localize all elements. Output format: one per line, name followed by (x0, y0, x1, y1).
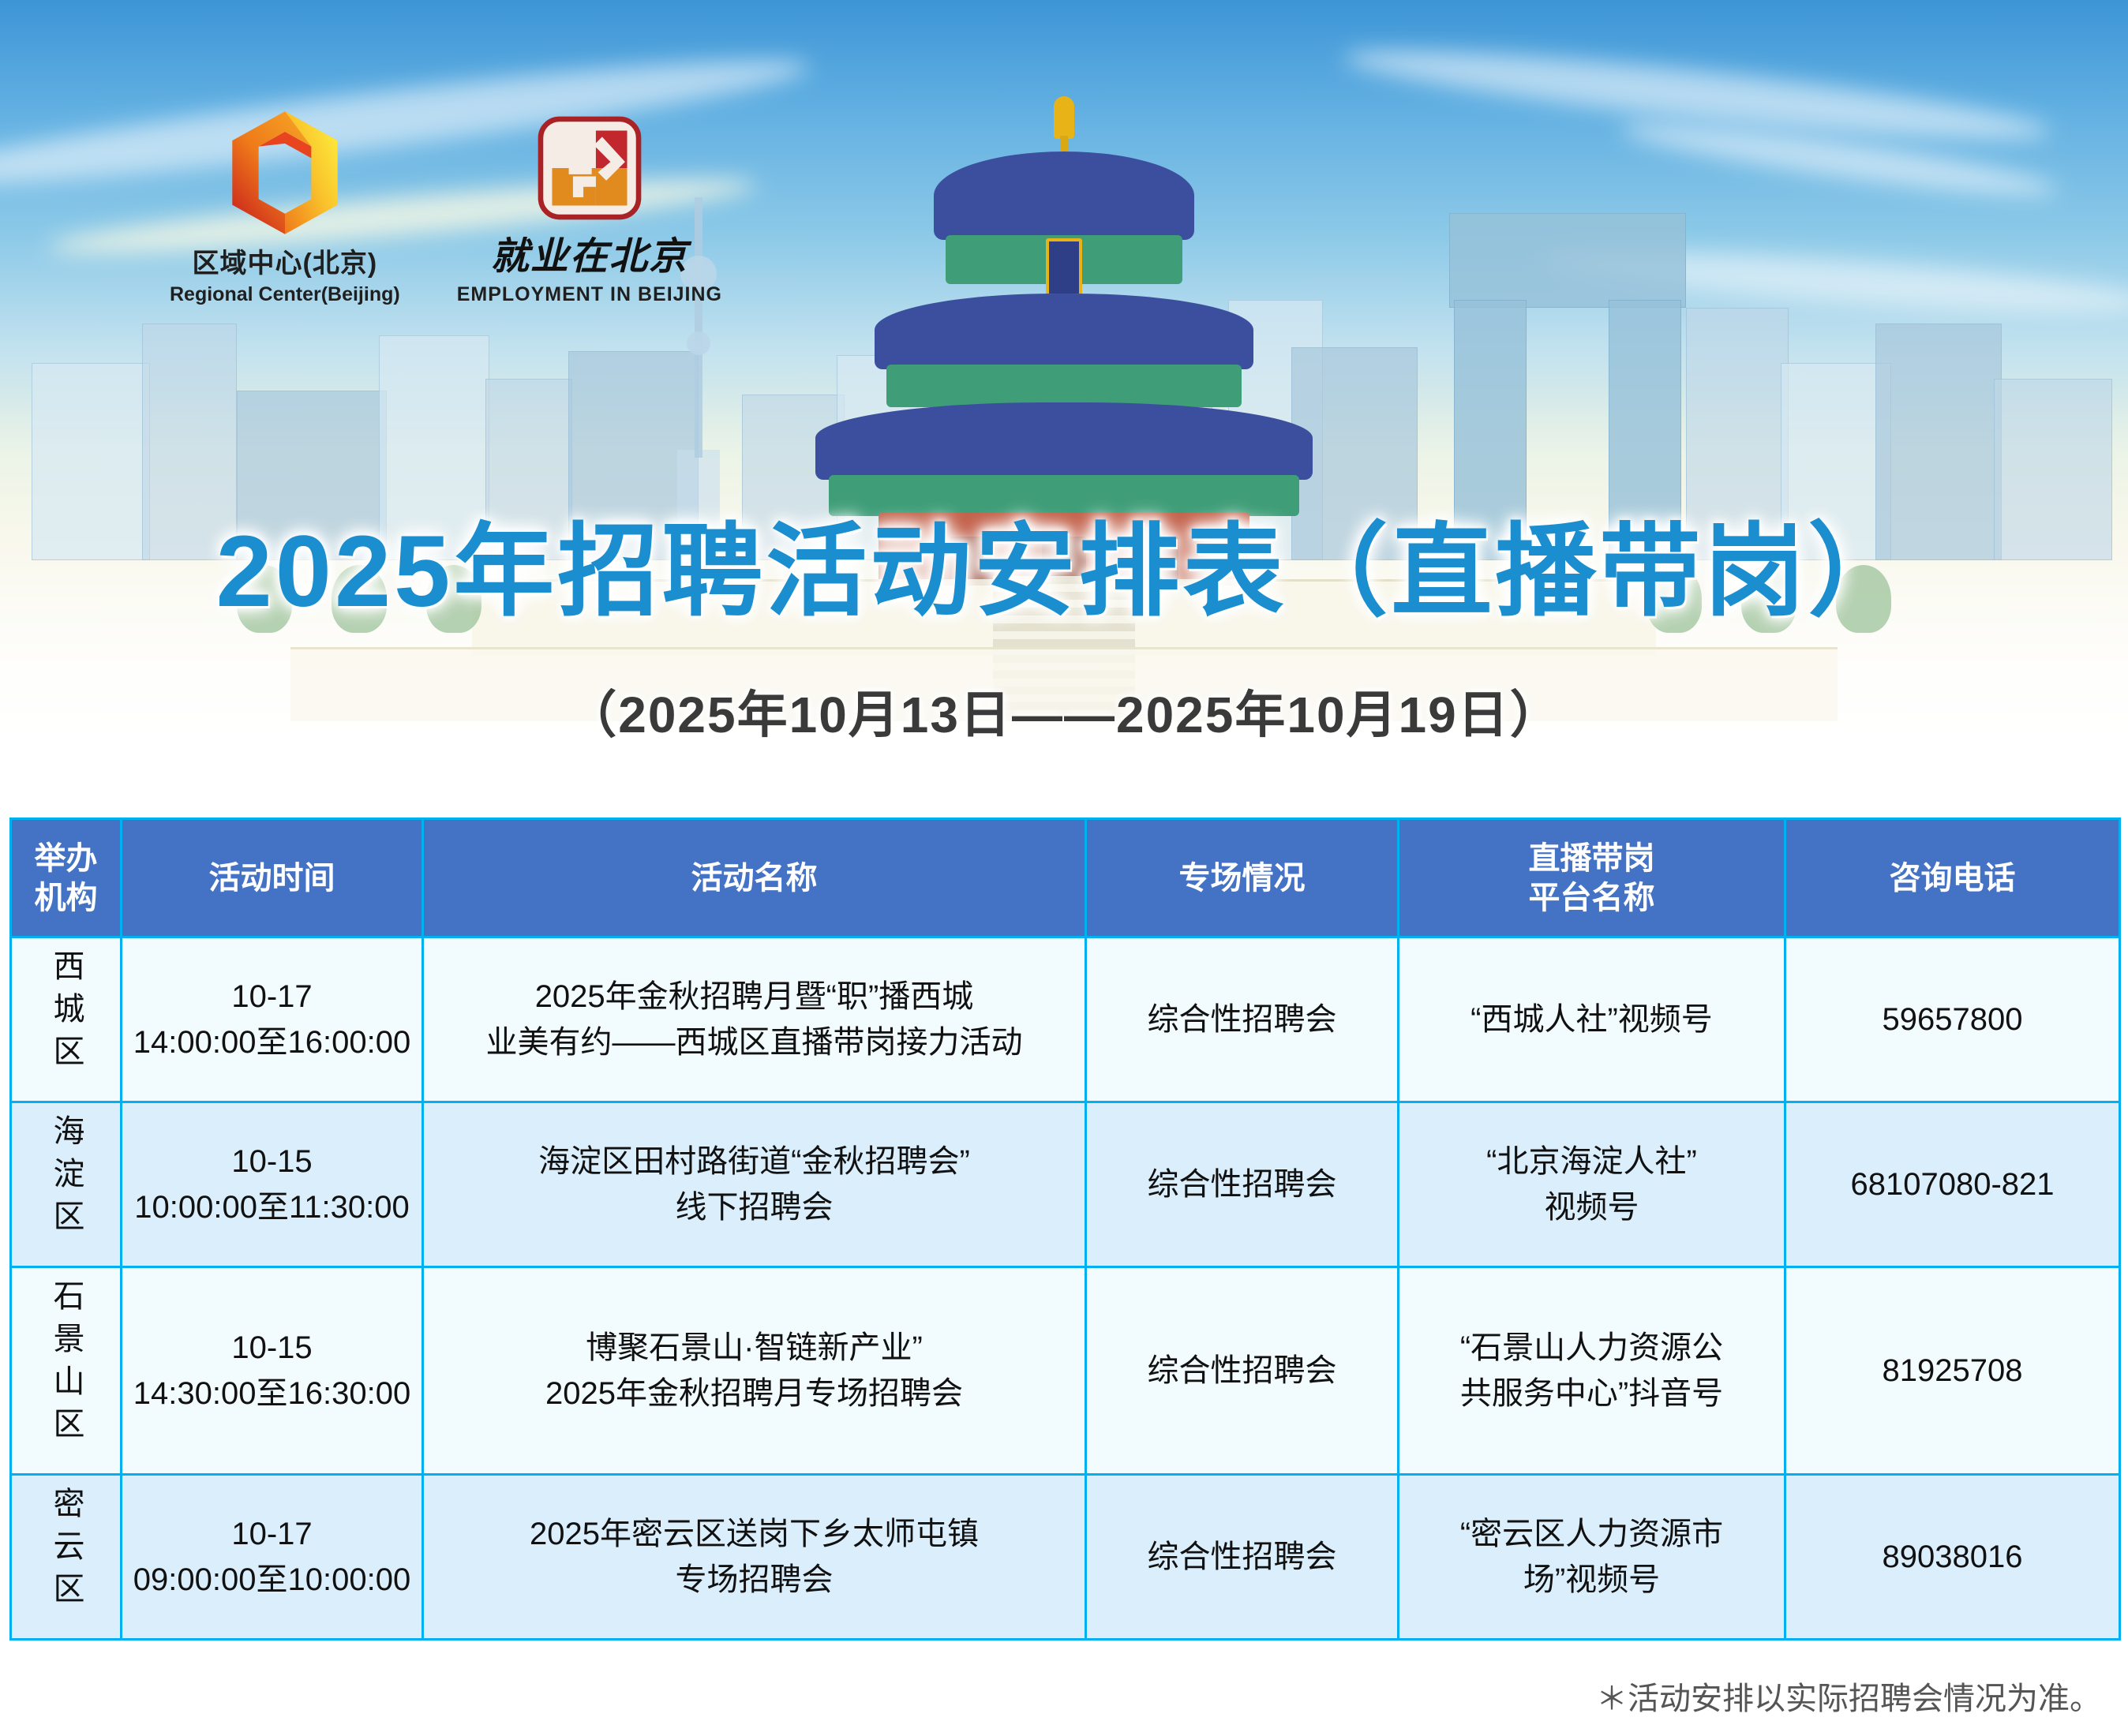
cell-platform: “密云区人力资源市 场”视频号 (1399, 1475, 1785, 1640)
temple-plaque (1046, 238, 1082, 297)
employment-label-en: EMPLOYMENT IN BEIJING (457, 283, 722, 306)
cell-name-line2: 线下招聘会 (432, 1184, 1077, 1230)
cell-org: 石景山区 (11, 1267, 122, 1475)
table-row: 密云区 10-17 09:00:00至10:00:00 2025年密云区送岗下乡… (11, 1475, 2120, 1640)
cell-name: 2025年金秋招聘月暨“职”播西城 业美有约——西城区直播带岗接力活动 (423, 937, 1086, 1102)
cell-tel: 89038016 (1785, 1475, 2120, 1640)
employment-badge-icon (538, 116, 642, 220)
logo-group: 区域中心(北京) Regional Center(Beijing) 就业在北京 … (170, 103, 722, 306)
temple-roof-bottom (815, 402, 1313, 480)
column-header-time: 活动时间 (122, 819, 423, 937)
cell-time-range: 14:00:00至16:00:00 (130, 1020, 414, 1065)
cell-name-line2: 专场招聘会 (432, 1557, 1077, 1603)
column-header-platform-line1: 直播带岗 (1403, 839, 1781, 878)
cell-org-text: 西城区 (43, 949, 89, 1077)
cell-tel: 81925708 (1785, 1267, 2120, 1475)
cell-tel: 68107080-821 (1785, 1102, 2120, 1267)
page-title: 2025年招聘活动安排表（直播带岗） (0, 489, 2128, 635)
table-header: 举办 机构 活动时间 活动名称 专场情况 直播带岗 平台名称 咨询电话 (11, 819, 2120, 937)
cell-org-text: 海淀区 (43, 1114, 89, 1242)
cell-name: 2025年密云区送岗下乡太师屯镇 专场招聘会 (423, 1475, 1086, 1640)
cell-platform-line1: “北京海淀人社” (1407, 1139, 1776, 1184)
cell-time-range: 14:30:00至16:30:00 (130, 1371, 414, 1416)
cell-platform-line1: “西城人社”视频号 (1407, 997, 1776, 1042)
cell-platform-line1: “密云区人力资源市 (1407, 1511, 1776, 1557)
cell-org-text: 密云区 (43, 1487, 89, 1614)
cell-platform-line2: 视频号 (1407, 1184, 1776, 1230)
cell-date: 10-17 (130, 1511, 414, 1557)
table-row: 石景山区 10-15 14:30:00至16:30:00 博聚石景山·智链新产业… (11, 1267, 2120, 1475)
cell-platform-line2: 场”视频号 (1407, 1557, 1776, 1603)
temple-finial (1054, 96, 1074, 139)
cell-org: 西城区 (11, 937, 122, 1102)
cell-name-line1: 博聚石景山·智链新产业” (432, 1325, 1077, 1371)
page-subtitle: （2025年10月13日——2025年10月19日） (0, 675, 2128, 747)
column-header-org-line1: 举办 (15, 839, 117, 878)
employment-label-cn: 就业在北京 (491, 225, 688, 280)
employment-beijing-logo: 就业在北京 EMPLOYMENT IN BEIJING (457, 116, 722, 306)
cell-name-line2: 业美有约——西城区直播带岗接力活动 (432, 1020, 1077, 1065)
cell-name: 海淀区田村路街道“金秋招聘会” 线下招聘会 (423, 1102, 1086, 1267)
schedule-table: 举办 机构 活动时间 活动名称 专场情况 直播带岗 平台名称 咨询电话 西城区 (9, 817, 2121, 1641)
cell-platform: “石景山人力资源公 共服务中心”抖音号 (1399, 1267, 1785, 1475)
cell-platform: “北京海淀人社” 视频号 (1399, 1102, 1785, 1267)
cell-date: 10-15 (130, 1325, 414, 1371)
column-header-org-line2: 机构 (15, 878, 117, 918)
hexagon-ring-logo-icon (212, 103, 358, 241)
cell-name-line1: 海淀区田村路街道“金秋招聘会” (432, 1139, 1077, 1184)
cell-type: 综合性招聘会 (1086, 1102, 1399, 1267)
cell-platform-line2: 共服务中心”抖音号 (1407, 1371, 1776, 1416)
cell-name: 博聚石景山·智链新产业” 2025年金秋招聘月专场招聘会 (423, 1267, 1086, 1475)
cell-name-line1: 2025年金秋招聘月暨“职”播西城 (432, 974, 1077, 1020)
column-header-platform: 直播带岗 平台名称 (1399, 819, 1785, 937)
cell-name-line2: 2025年金秋招聘月专场招聘会 (432, 1371, 1077, 1416)
regional-center-logo: 区域中心(北京) Regional Center(Beijing) (170, 103, 400, 306)
cell-type: 综合性招聘会 (1086, 1475, 1399, 1640)
table-row: 海淀区 10-15 10:00:00至11:30:00 海淀区田村路街道“金秋招… (11, 1102, 2120, 1267)
cell-type: 综合性招聘会 (1086, 1267, 1399, 1475)
cell-time-range: 10:00:00至11:30:00 (130, 1184, 414, 1230)
cell-org-text: 石景山区 (43, 1279, 89, 1450)
cell-type: 综合性招聘会 (1086, 937, 1399, 1102)
cell-time: 10-17 09:00:00至10:00:00 (122, 1475, 423, 1640)
cell-time: 10-15 14:30:00至16:30:00 (122, 1267, 423, 1475)
cell-date: 10-15 (130, 1139, 414, 1184)
cell-tel: 59657800 (1785, 937, 2120, 1102)
column-header-platform-line2: 平台名称 (1403, 878, 1781, 918)
cell-org: 密云区 (11, 1475, 122, 1640)
regional-center-label-en: Regional Center(Beijing) (170, 283, 400, 306)
table-body: 西城区 10-17 14:00:00至16:00:00 2025年金秋招聘月暨“… (11, 937, 2120, 1640)
column-header-name: 活动名称 (423, 819, 1086, 937)
regional-center-label-cn: 区域中心(北京) (193, 241, 378, 280)
column-header-tel: 咨询电话 (1785, 819, 2120, 937)
column-header-org: 举办 机构 (11, 819, 122, 937)
cell-time-range: 09:00:00至10:00:00 (130, 1557, 414, 1603)
temple-roof-top (934, 152, 1194, 240)
table-header-row: 举办 机构 活动时间 活动名称 专场情况 直播带岗 平台名称 咨询电话 (11, 819, 2120, 937)
cell-time: 10-17 14:00:00至16:00:00 (122, 937, 423, 1102)
poster-page: 区域中心(北京) Regional Center(Beijing) 就业在北京 … (0, 0, 2128, 1736)
cctv-hq-top (1449, 213, 1686, 308)
cell-date: 10-17 (130, 974, 414, 1020)
cell-org: 海淀区 (11, 1102, 122, 1267)
temple-roof-mid (875, 294, 1253, 369)
cell-platform-line1: “石景山人力资源公 (1407, 1325, 1776, 1371)
schedule-table-wrapper: 举办 机构 活动时间 活动名称 专场情况 直播带岗 平台名称 咨询电话 西城区 (9, 817, 2119, 1641)
cell-platform: “西城人社”视频号 (1399, 937, 1785, 1102)
cell-time: 10-15 10:00:00至11:30:00 (122, 1102, 423, 1267)
tv-tower-sphere-small (687, 331, 710, 355)
column-header-type: 专场情况 (1086, 819, 1399, 937)
footnote-text: ＊活动安排以实际招聘会情况为准。 (1596, 1673, 2101, 1719)
table-row: 西城区 10-17 14:00:00至16:00:00 2025年金秋招聘月暨“… (11, 937, 2120, 1102)
cell-name-line1: 2025年密云区送岗下乡太师屯镇 (432, 1511, 1077, 1557)
temple-eave-band (886, 365, 1242, 407)
